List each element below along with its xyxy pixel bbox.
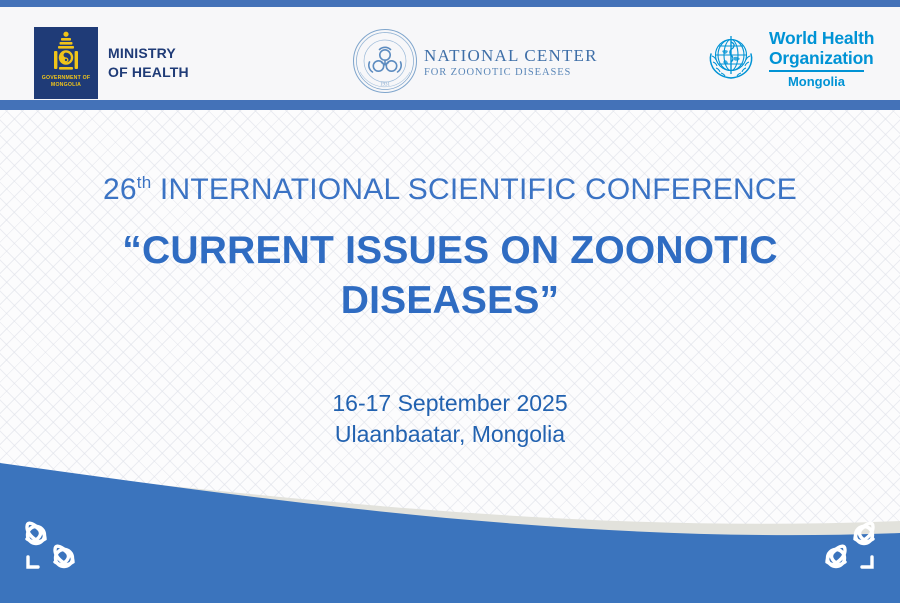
conference-label: INTERNATIONAL SCIENTIFIC CONFERENCE [160,173,797,206]
wave-shapes [0,463,900,603]
who-name-line1: World Health [769,28,874,48]
national-center-name-line2: FOR ZOONOTIC DISEASES [424,66,598,80]
decorative-wave-footer [0,463,900,603]
seal-year: 1931 [380,83,391,88]
triquetra-knot-icon [14,517,92,579]
ministry-emblem-caption-line2: MONGOLIA [51,82,81,89]
ministry-name-line2: OF HEALTH [108,63,189,82]
top-accent-bar [0,0,900,7]
ministry-emblem-caption-line1: GOVERNMENT OF [42,75,90,82]
soyombo-emblem: GOVERNMENT OF MONGOLIA [34,27,98,99]
triquetra-knot-icon [808,517,886,579]
logo-header-band: GOVERNMENT OF MONGOLIA MINISTRY OF HEALT… [0,7,900,100]
triquetra-knot-ornament-left [14,517,92,579]
national-center-logo: 1931 NATIONAL CENTER FOR ZOONOTIC DISEAS… [352,28,598,94]
national-center-name-line1: NATIONAL CENTER [424,46,598,66]
event-dates: 16-17 September 2025 [0,388,900,419]
slide-content: 26th INTERNATIONAL SCIENTIFIC CONFERENCE… [0,110,900,490]
conference-title-slide: GOVERNMENT OF MONGOLIA MINISTRY OF HEALT… [0,0,900,603]
national-center-name: NATIONAL CENTER FOR ZOONOTIC DISEASES [424,42,598,80]
ministry-name-line1: MINISTRY [108,44,189,63]
who-emblem-icon [700,26,762,88]
conference-heading: 26th INTERNATIONAL SCIENTIFIC CONFERENCE [0,172,900,208]
header-divider-bar [0,100,900,110]
ministry-of-health-logo: GOVERNMENT OF MONGOLIA MINISTRY OF HEALT… [34,27,189,99]
triquetra-knot-ornament-right [808,517,886,579]
biohazard-seal-icon: 1931 [352,28,418,94]
who-logo: World Health Organization Mongolia [700,26,874,89]
who-divider-rule [769,70,864,72]
conference-number: 26 [103,173,137,206]
event-location: Ulaanbaatar, Mongolia [0,419,900,450]
who-country-label: Mongolia [769,74,864,89]
conference-ordinal-suffix: th [137,173,152,192]
ministry-of-health-name: MINISTRY OF HEALTH [108,44,189,82]
who-name-line2: Organization [769,48,874,68]
event-details: 16-17 September 2025 Ulaanbaatar, Mongol… [0,388,900,450]
soyombo-emblem-icon [51,31,81,75]
who-name-block: World Health Organization Mongolia [769,26,874,89]
page-title: “CURRENT ISSUES ON ZOONOTIC DISEASES” [0,226,900,326]
